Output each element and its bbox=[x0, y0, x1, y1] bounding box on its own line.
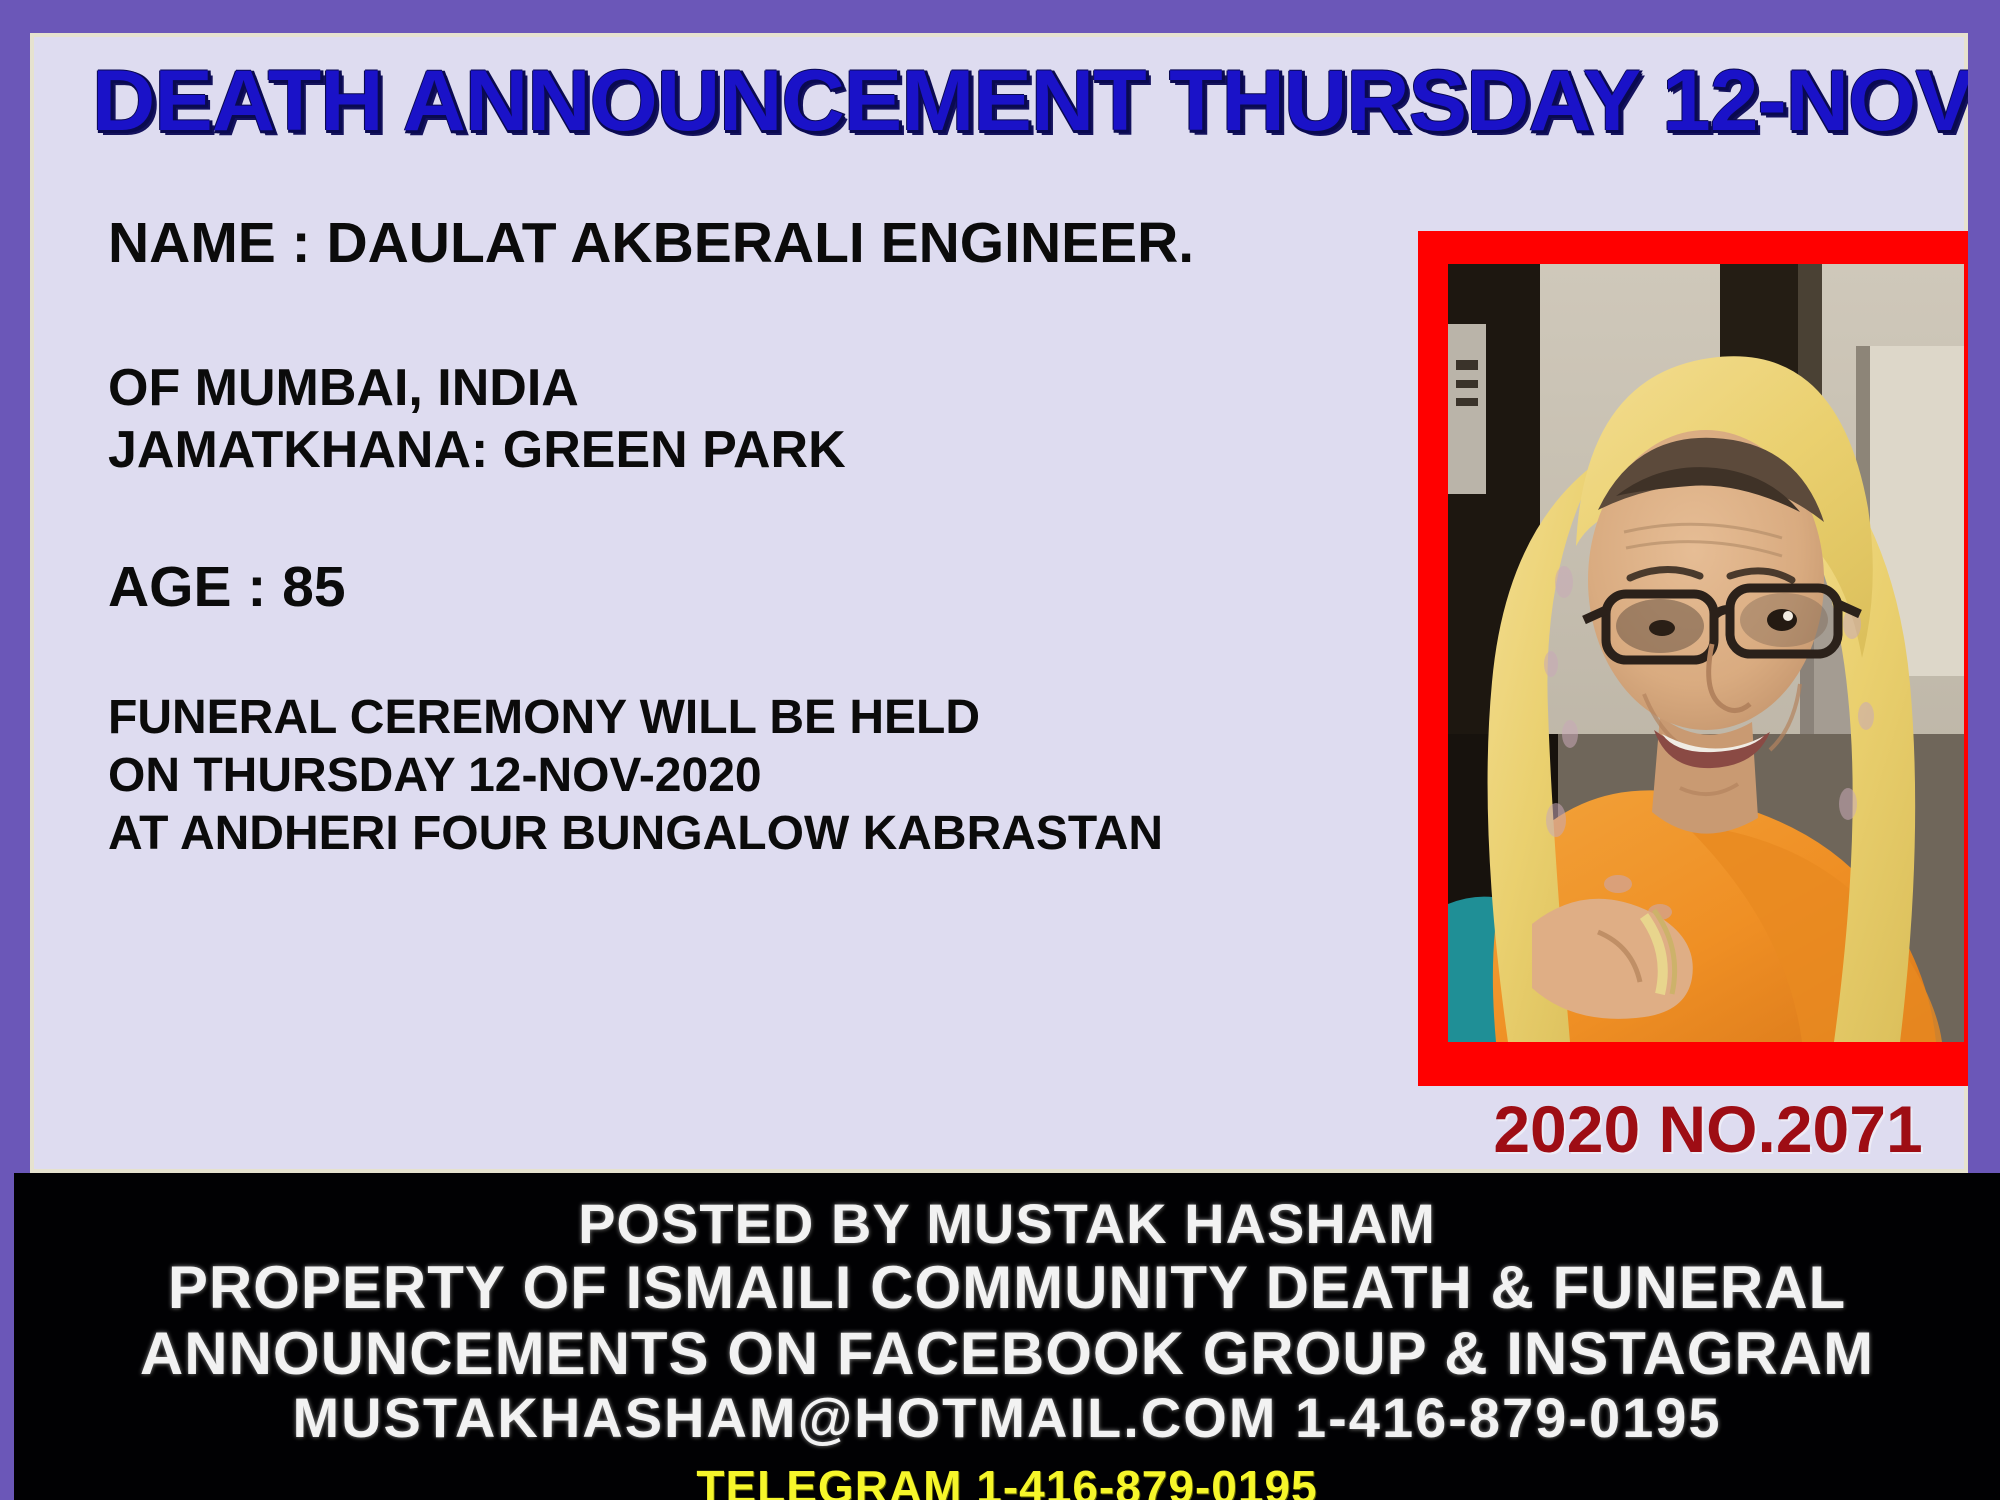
footer-channels-line: ANNOUNCEMENTS ON FACEBOOK GROUP & INSTAG… bbox=[14, 1321, 2000, 1387]
portrait-frame bbox=[1418, 231, 1968, 1086]
footer-credit-bar: POSTED BY MUSTAK HASHAM PROPERTY OF ISMA… bbox=[14, 1173, 2000, 1500]
details-block: NAME : DAULAT AKBERALI ENGINEER. OF MUMB… bbox=[108, 211, 1338, 863]
footer-telegram-line: TELEGRAM 1-416-879-0195 bbox=[14, 1459, 2000, 1500]
footer-contact-line: MUSTAKHASHAM@HOTMAIL.COM 1-416-879-0195 bbox=[14, 1387, 2000, 1449]
funeral-line-1: FUNERAL CEREMONY WILL BE HELD bbox=[108, 689, 1338, 747]
page-title: DEATH ANNOUNCEMENT THURSDAY 12-NOV-2020 bbox=[92, 55, 1959, 147]
death-announcement-poster: DEATH ANNOUNCEMENT THURSDAY 12-NOV-2020 … bbox=[0, 0, 2000, 1500]
portrait-illustration bbox=[1448, 264, 1964, 1042]
funeral-line-3: AT ANDHERI FOUR BUNGALOW KABRASTAN bbox=[108, 805, 1338, 863]
portrait-photo bbox=[1448, 264, 1964, 1042]
spacer bbox=[108, 619, 1338, 689]
footer-property-line: PROPERTY OF ISMAILI COMMUNITY DEATH & FU… bbox=[14, 1255, 2000, 1321]
origin-line: OF MUMBAI, INDIA bbox=[108, 357, 1338, 419]
funeral-line-2: ON THURSDAY 12-NOV-2020 bbox=[108, 747, 1338, 805]
announcement-reference-number: 2020 NO.2071 bbox=[1418, 1093, 1968, 1165]
spacer bbox=[108, 481, 1338, 555]
spacer bbox=[108, 275, 1338, 357]
deceased-name-line: NAME : DAULAT AKBERALI ENGINEER. bbox=[108, 211, 1338, 275]
footer-posted-by: POSTED BY MUSTAK HASHAM bbox=[14, 1193, 2000, 1255]
jamatkhana-line: JAMATKHANA: GREEN PARK bbox=[108, 419, 1338, 481]
age-line: AGE : 85 bbox=[108, 555, 1338, 619]
announcement-card: DEATH ANNOUNCEMENT THURSDAY 12-NOV-2020 … bbox=[30, 33, 1968, 1173]
